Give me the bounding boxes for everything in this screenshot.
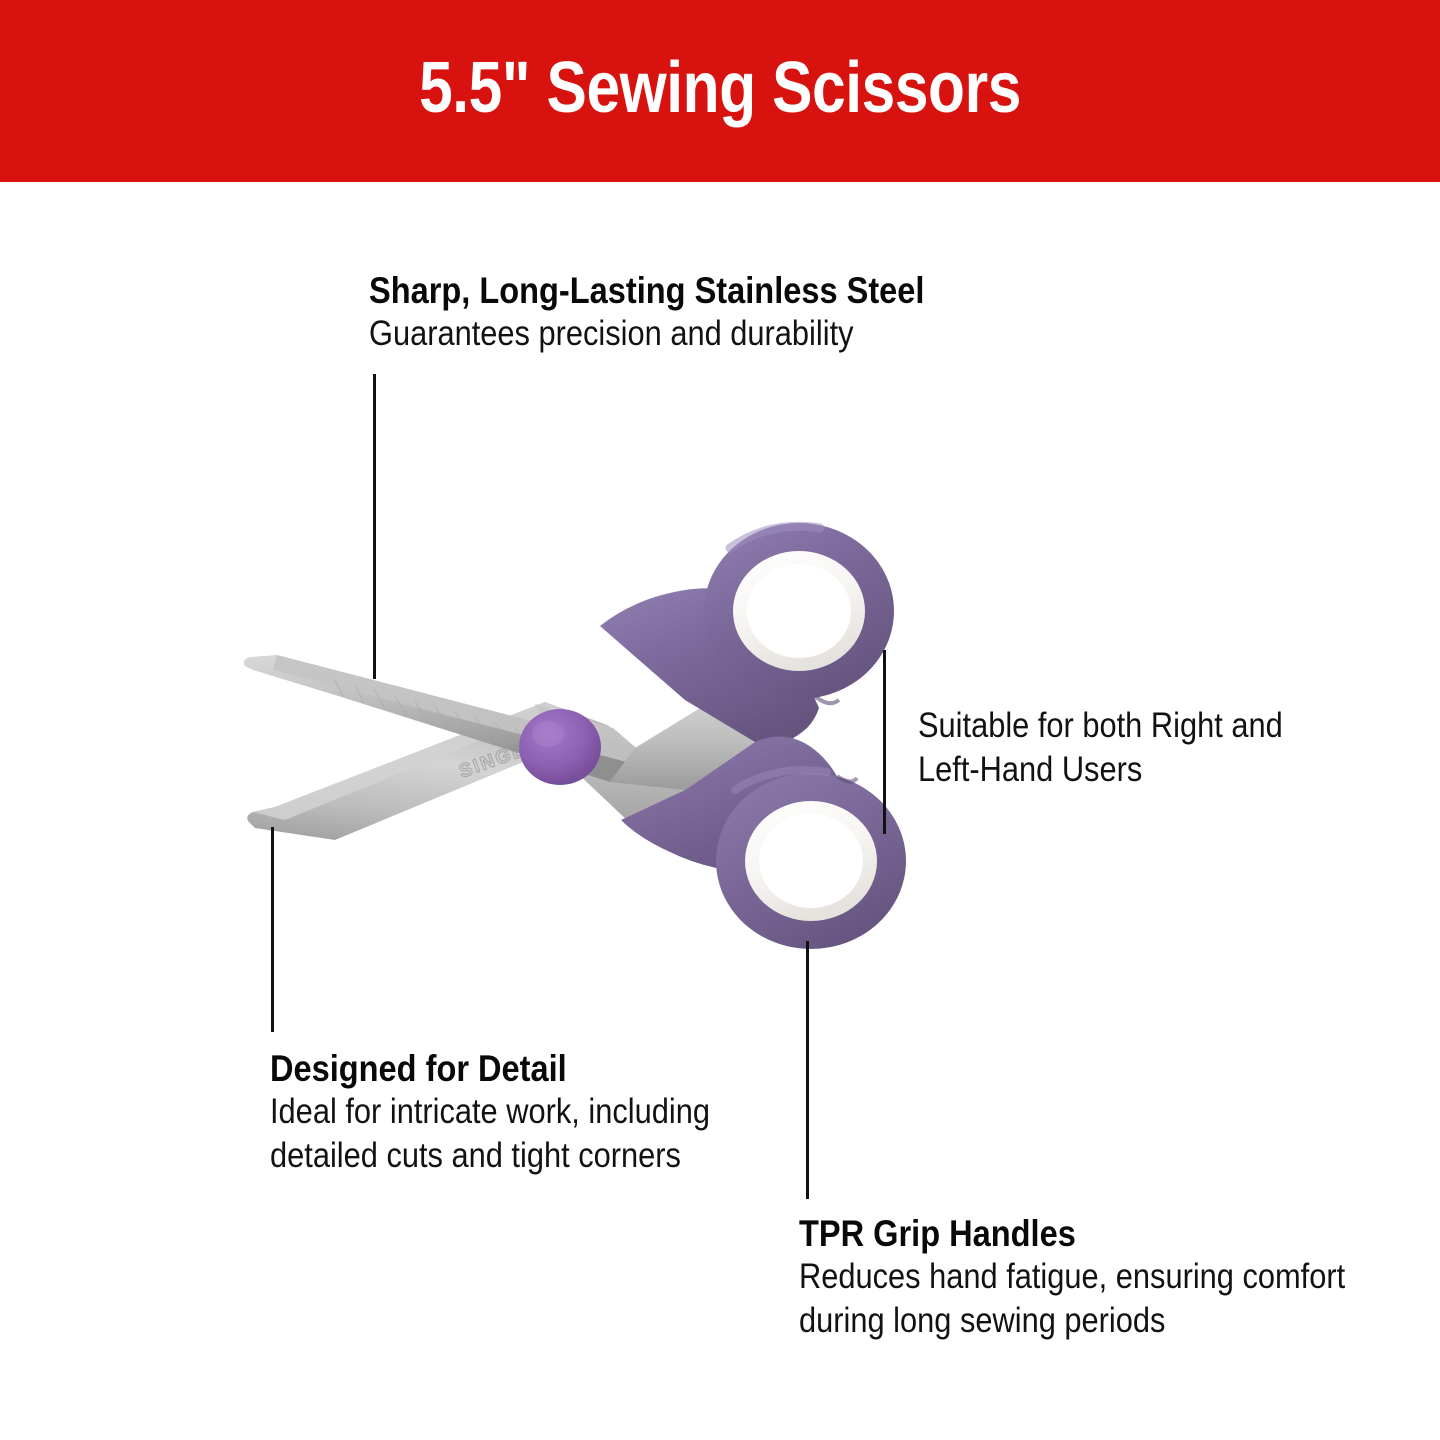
callout-body-designed-for-detail-line-2: detailed cuts and tight corners	[270, 1134, 710, 1178]
scissor-handle-upper	[600, 523, 894, 745]
callout-body-stainless-steel-line-1: Guarantees precision and durability	[369, 312, 924, 356]
callout-title-tpr-grip-handles: TPR Grip Handles	[799, 1213, 1345, 1255]
callout-body-tpr-grip-handles-line-2: during long sewing periods	[799, 1299, 1345, 1343]
leader-line-grip	[806, 941, 809, 1199]
callout-title-designed-for-detail: Designed for Detail	[270, 1048, 710, 1090]
product-image-scissors: SINGER	[215, 490, 955, 990]
callout-body-hand-users-line-1: Suitable for both Right and	[918, 704, 1283, 748]
infographic-canvas: 5.5" Sewing Scissors	[0, 0, 1440, 1440]
leader-line-steel	[373, 374, 376, 679]
header-banner: 5.5" Sewing Scissors	[0, 0, 1440, 182]
leader-line-hands	[883, 650, 886, 834]
callout-body-tpr-grip-handles-line-1: Reduces hand fatigue, ensuring comfort	[799, 1255, 1345, 1299]
callout-designed-for-detail: Designed for Detail Ideal for intricate …	[270, 1048, 770, 1178]
callout-tpr-grip-handles: TPR Grip Handles Reduces hand fatigue, e…	[799, 1213, 1420, 1343]
pivot-screw	[519, 709, 601, 785]
callout-body-hand-users-line-2: Left-Hand Users	[918, 748, 1283, 792]
callout-title-stainless-steel: Sharp, Long-Lasting Stainless Steel	[369, 270, 924, 312]
callout-hand-users: Suitable for both Right and Left-Hand Us…	[918, 704, 1332, 792]
callout-stainless-steel: Sharp, Long-Lasting Stainless Steel Guar…	[369, 270, 1000, 356]
callout-body-designed-for-detail-line-1: Ideal for intricate work, including	[270, 1090, 710, 1134]
page-title: 5.5" Sewing Scissors	[115, 0, 1325, 182]
leader-line-detail	[271, 827, 274, 1032]
